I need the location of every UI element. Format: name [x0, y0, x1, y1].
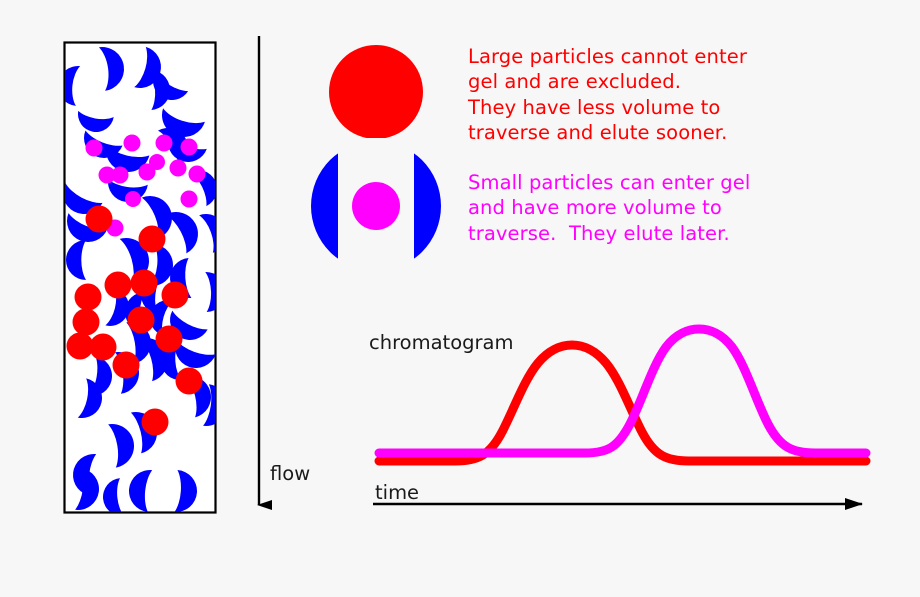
chromatography-column — [56, 43, 232, 518]
annotation-large-particles: Large particles cannot enter gel and are… — [468, 44, 747, 146]
included-small-particle — [352, 182, 400, 230]
annotation-small-particles: Small particles can enter gel and have m… — [468, 170, 750, 246]
excluded-large-particle — [329, 45, 423, 139]
flow-label: flow — [270, 462, 310, 485]
diagram-svg — [0, 0, 920, 597]
figure-canvas: Large particles cannot enter gel and are… — [0, 0, 920, 597]
chromatogram-label: chromatogram — [369, 331, 513, 354]
chromatogram-plot — [373, 329, 866, 504]
time-axis-label: time — [375, 481, 419, 504]
bead-schematic — [311, 45, 441, 274]
curve-large-particles — [379, 345, 866, 461]
